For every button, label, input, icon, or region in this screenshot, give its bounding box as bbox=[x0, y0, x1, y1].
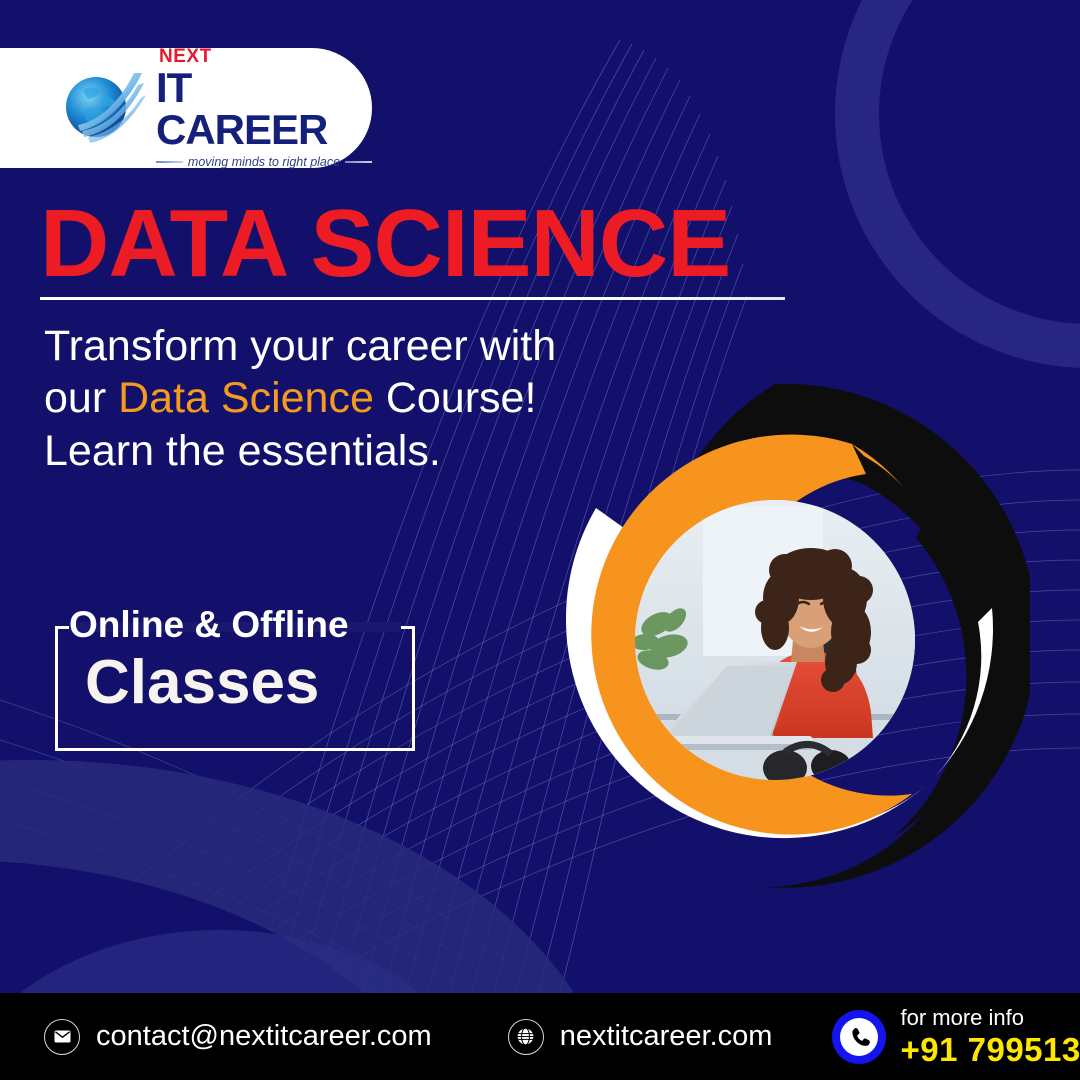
title-underline bbox=[40, 297, 785, 300]
footer-phone[interactable]: for more info +91 7995138210 bbox=[832, 1007, 1080, 1066]
logo-name: IT CAREER bbox=[156, 67, 372, 151]
classes-badge: Online & Offline Classes bbox=[55, 626, 415, 751]
page-title: DATA SCIENCE bbox=[40, 196, 730, 292]
globe-icon bbox=[58, 65, 150, 151]
footer-email[interactable]: contact@nextitcareer.com bbox=[44, 1019, 432, 1055]
envelope-icon bbox=[44, 1019, 80, 1055]
tagline-highlight: Data Science bbox=[118, 374, 374, 422]
tagline-line-1: Transform your career with bbox=[44, 320, 664, 372]
brand-logo[interactable]: NEXT IT CAREER moving minds to right pla… bbox=[0, 48, 372, 168]
badge-line-2: Classes bbox=[85, 652, 319, 714]
phone-text-block: for more info +91 7995138210 bbox=[900, 1007, 1080, 1066]
phone-label: for more info bbox=[900, 1007, 1080, 1029]
poster: NEXT IT CAREER moving minds to right pla… bbox=[0, 0, 1080, 1080]
phone-number: +91 7995138210 bbox=[900, 1033, 1080, 1066]
tagline-prefix: our bbox=[44, 374, 118, 422]
badge-line-1: Online & Offline bbox=[69, 606, 349, 643]
footer-website-text: nextitcareer.com bbox=[560, 1020, 773, 1053]
logo-dash-left bbox=[156, 161, 183, 163]
hero-photo bbox=[635, 500, 915, 780]
hero-graphic bbox=[500, 372, 1030, 912]
logo-tagline-row: moving minds to right place bbox=[156, 155, 372, 169]
logo-wordmark: NEXT IT CAREER moving minds to right pla… bbox=[156, 47, 372, 169]
logo-tagline: moving minds to right place bbox=[188, 155, 340, 169]
footer-website[interactable]: nextitcareer.com bbox=[508, 1019, 773, 1055]
footer-email-text: contact@nextitcareer.com bbox=[96, 1020, 432, 1053]
logo-dash-right bbox=[345, 161, 372, 163]
phone-icon bbox=[832, 1010, 886, 1064]
contact-footer: contact@nextitcareer.com nextitcareer.co… bbox=[0, 993, 1080, 1080]
globe-icon bbox=[508, 1019, 544, 1055]
corner-ring-decoration bbox=[835, 0, 1080, 368]
